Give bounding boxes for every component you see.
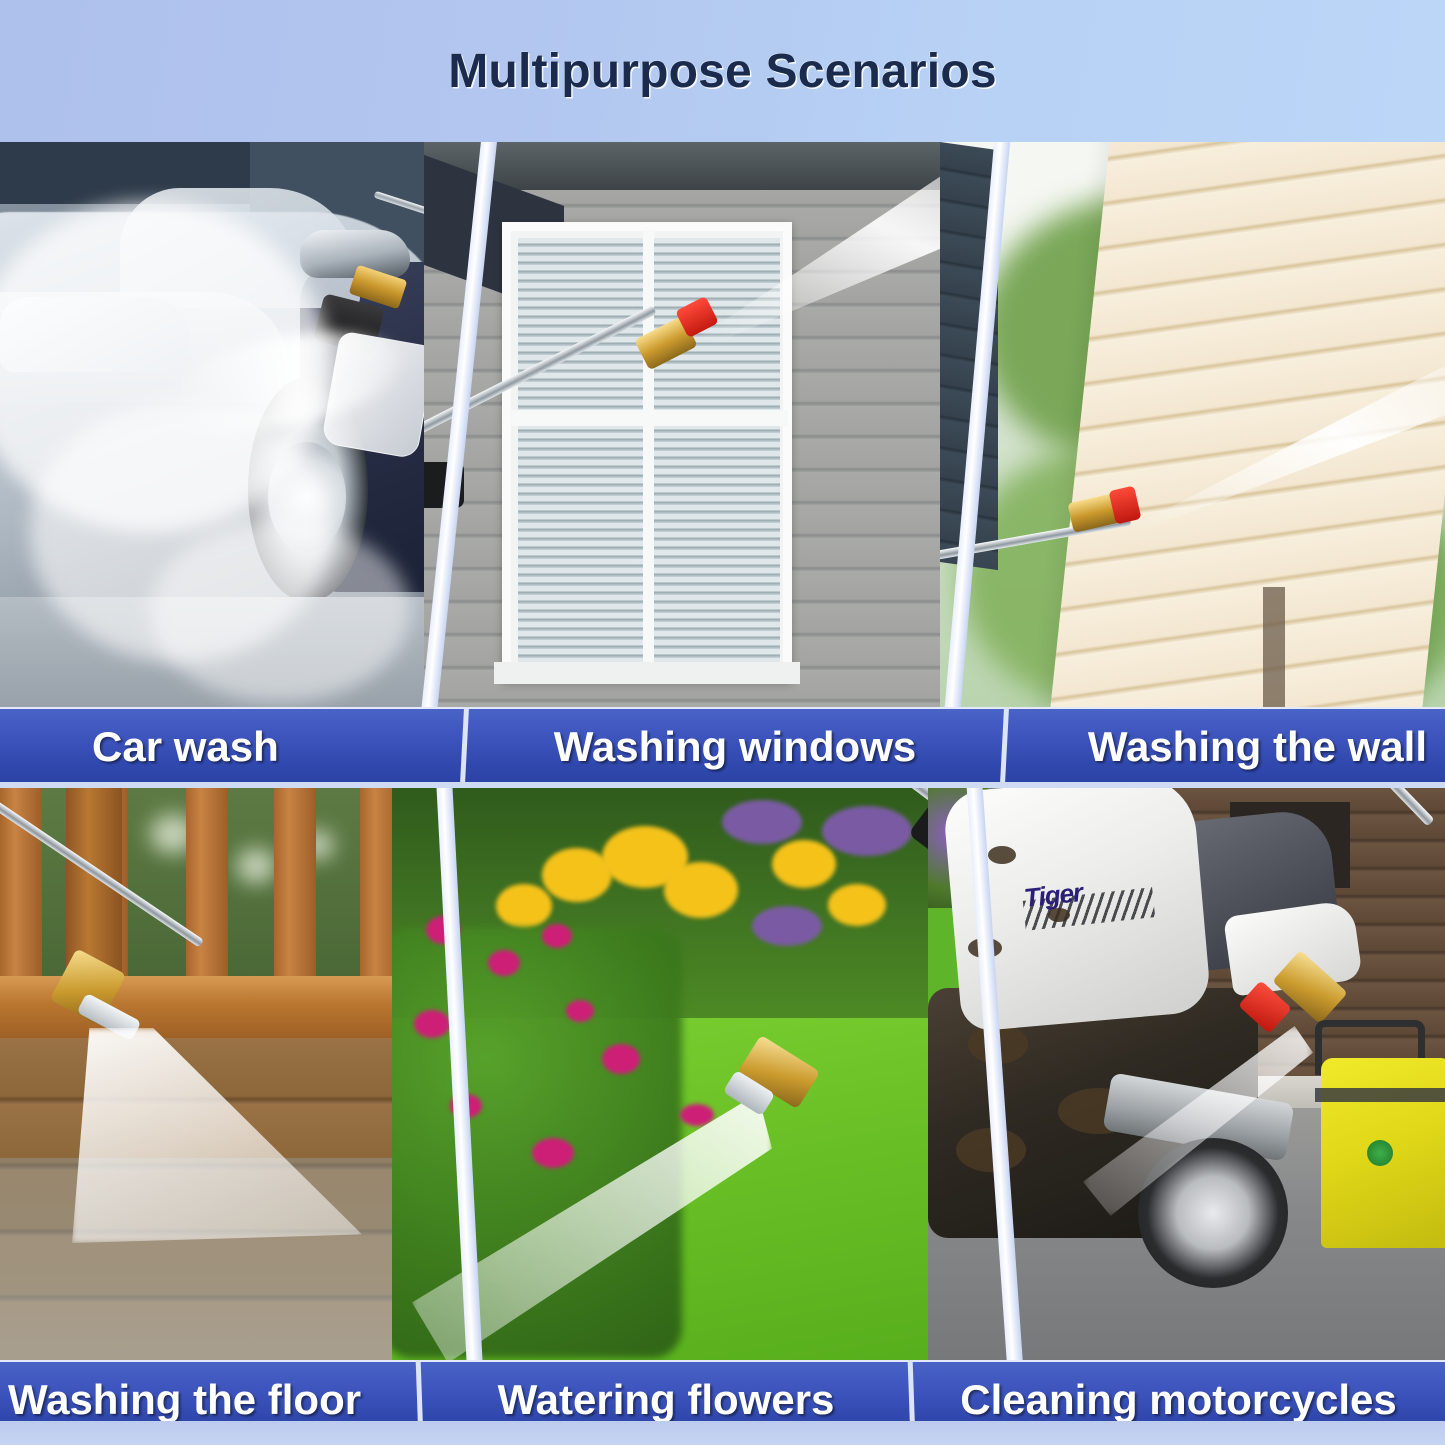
adjacent-dark-wall xyxy=(940,142,998,570)
scenario-cell-cleaning-motorcycles[interactable]: Tiger xyxy=(928,788,1445,1360)
window-pane xyxy=(652,424,780,668)
row-separator xyxy=(0,782,1445,788)
downspout xyxy=(1263,587,1285,707)
scenario-grid: Car wash Washing windows Washing the wal… xyxy=(0,142,1445,1445)
yellow-flower-cluster xyxy=(828,884,886,926)
pressure-washer-trim xyxy=(1315,1088,1445,1102)
photo-washing-the-floor xyxy=(0,788,452,1360)
window-mullion-vertical xyxy=(643,230,654,676)
label-washing-the-wall[interactable]: Washing the wall xyxy=(1004,707,1445,782)
magenta-zinnia xyxy=(488,950,520,976)
lance-handle xyxy=(424,462,464,508)
yellow-flower-cluster xyxy=(772,840,836,888)
window-sill xyxy=(494,662,800,684)
purple-foliage xyxy=(822,806,912,856)
window-mullion-horizontal xyxy=(510,410,788,426)
mud-splatter xyxy=(1048,908,1070,922)
photo-cleaning-motorcycles: Tiger xyxy=(928,788,1445,1360)
mud-splatter xyxy=(956,1128,1026,1172)
scenario-cell-washing-windows[interactable] xyxy=(424,142,1014,707)
pressure-washer-dial xyxy=(1367,1140,1393,1166)
scenario-row-bottom: Tiger xyxy=(0,788,1445,1445)
magenta-zinnia xyxy=(414,1010,450,1038)
railing-baluster xyxy=(186,788,228,998)
infographic-page: Multipurpose Scenarios xyxy=(0,0,1445,1445)
magenta-zinnia xyxy=(542,924,572,948)
photo-washing-windows xyxy=(424,142,1014,707)
mud-splatter xyxy=(988,846,1016,864)
purple-foliage xyxy=(752,906,822,946)
roof-eave xyxy=(424,142,1014,190)
mud-splatter xyxy=(968,938,1002,958)
yellow-flower-cluster xyxy=(664,862,738,918)
magenta-zinnia xyxy=(602,1044,640,1074)
magenta-zinnia xyxy=(680,1104,714,1126)
label-washing-windows[interactable]: Washing windows xyxy=(466,707,1004,782)
magenta-zinnia xyxy=(450,1094,482,1118)
scenario-cell-washing-the-floor[interactable] xyxy=(0,788,452,1360)
purple-foliage xyxy=(722,800,802,844)
header-banner: Multipurpose Scenarios xyxy=(0,0,1445,142)
magenta-zinnia xyxy=(532,1138,574,1168)
page-title: Multipurpose Scenarios xyxy=(448,44,997,99)
scenario-cell-washing-the-wall[interactable] xyxy=(940,142,1445,707)
bottom-border xyxy=(0,1421,1445,1445)
railing-baluster xyxy=(274,788,316,998)
scenario-row-top: Car wash Washing windows Washing the wal… xyxy=(0,142,1445,782)
magenta-zinnia xyxy=(426,916,460,944)
photo-washing-the-wall xyxy=(940,142,1445,707)
label-car-wash[interactable]: Car wash xyxy=(0,707,466,782)
photo-watering-flowers xyxy=(392,788,962,1360)
scenario-cell-watering-flowers[interactable] xyxy=(392,788,962,1360)
window-pane xyxy=(518,424,646,668)
label-bar-row-top: Car wash Washing windows Washing the wal… xyxy=(0,707,1445,782)
magenta-zinnia xyxy=(566,1000,594,1022)
yellow-flower-cluster xyxy=(496,884,552,928)
foam-patch xyxy=(150,522,410,702)
mud-splatter xyxy=(968,1024,1028,1064)
